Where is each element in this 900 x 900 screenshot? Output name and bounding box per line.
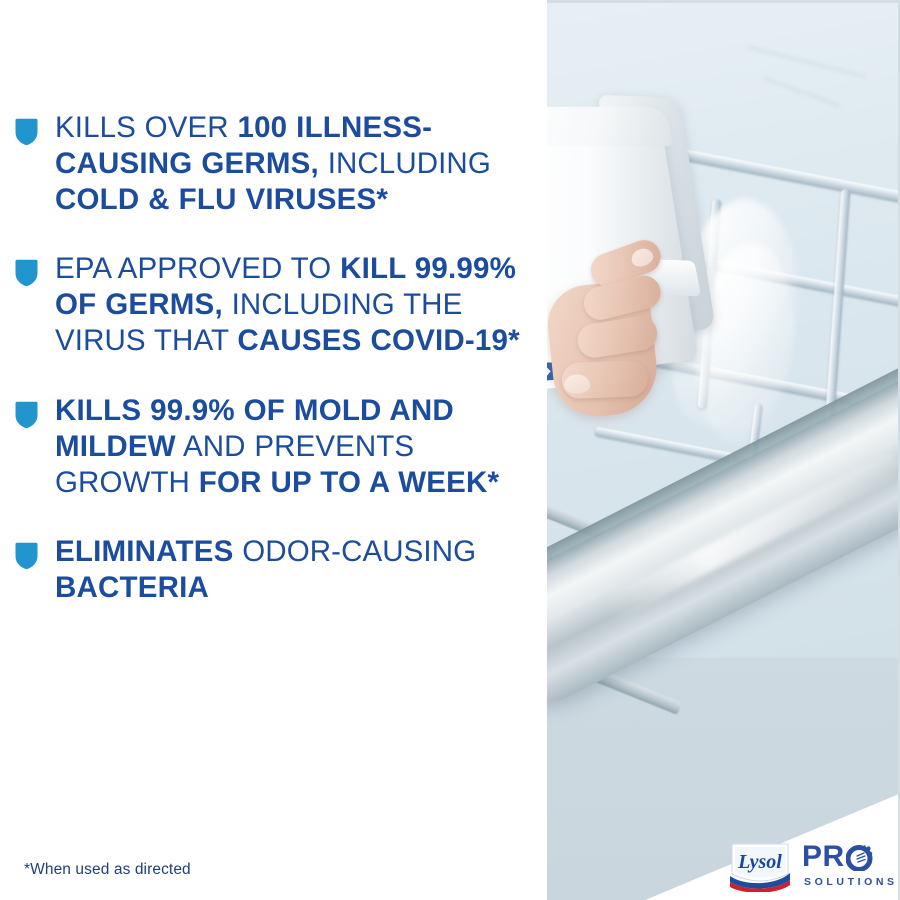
benefit-segment-bold: BACTERIA bbox=[55, 571, 209, 604]
footnote-disclaimer: *When used as directed bbox=[24, 862, 191, 878]
benefit-segment-bold: FOR UP TO A WEEK* bbox=[199, 466, 499, 499]
pro-solutions-logo: PR SOLUTIONS bbox=[802, 842, 898, 890]
shield-icon bbox=[14, 542, 39, 570]
shield-icon bbox=[14, 259, 39, 287]
photo-scene bbox=[547, 3, 898, 900]
benefit-segment: INCLUDING bbox=[319, 147, 491, 180]
benefit-segment-bold: ELIMINATES bbox=[55, 535, 233, 568]
pro-wordmark: PR bbox=[802, 842, 898, 872]
benefit-bullet-list: KILLS OVER 100 ILLNESS-CAUSING GERMS, IN… bbox=[14, 110, 544, 606]
list-item: EPA APPROVED TO KILL 99.99% OF GERMS, IN… bbox=[14, 251, 544, 358]
bottle-top bbox=[547, 107, 673, 147]
fingernail bbox=[564, 375, 590, 394]
shield-icon bbox=[14, 118, 39, 146]
list-item: ELIMINATES ODOR-CAUSING BACTERIA bbox=[14, 534, 544, 606]
pro-tagline: SOLUTIONS bbox=[802, 876, 898, 888]
benefit-segment: EPA APPROVED TO bbox=[55, 252, 340, 285]
benefits-copy-panel: KILLS OVER 100 ILLNESS-CAUSING GERMS, IN… bbox=[0, 0, 547, 900]
benefit-text: ELIMINATES ODOR-CAUSING BACTERIA bbox=[55, 534, 544, 606]
benefit-text: KILLS 99.9% OF MOLD AND MILDEW AND PREVE… bbox=[55, 393, 544, 500]
list-item: KILLS OVER 100 ILLNESS-CAUSING GERMS, IN… bbox=[14, 110, 544, 217]
pro-o-sparkle-icon bbox=[846, 844, 873, 871]
list-item: KILLS 99.9% OF MOLD AND MILDEW AND PREVE… bbox=[14, 393, 544, 500]
product-photo bbox=[547, 0, 900, 900]
hand bbox=[547, 233, 683, 436]
marketing-image-canvas: KILLS OVER 100 ILLNESS-CAUSING GERMS, IN… bbox=[0, 0, 900, 900]
benefit-segment: ODOR-CAUSING bbox=[233, 535, 476, 568]
benefit-segment-bold: COLD & FLU VIRUSES* bbox=[55, 183, 388, 216]
lysol-logo: Lysol bbox=[728, 840, 792, 892]
benefit-segment-bold: CAUSES COVID-19* bbox=[237, 324, 519, 357]
benefit-text: KILLS OVER 100 ILLNESS-CAUSING GERMS, IN… bbox=[55, 110, 544, 217]
benefit-text: EPA APPROVED TO KILL 99.99% OF GERMS, IN… bbox=[55, 251, 544, 358]
shield-icon bbox=[14, 401, 39, 429]
svg-text:Lysol: Lysol bbox=[737, 851, 782, 873]
brand-logo-lockup: Lysol PR bbox=[728, 838, 893, 894]
benefit-segment: KILLS OVER bbox=[55, 111, 237, 144]
pro-letters: PR bbox=[802, 842, 845, 872]
